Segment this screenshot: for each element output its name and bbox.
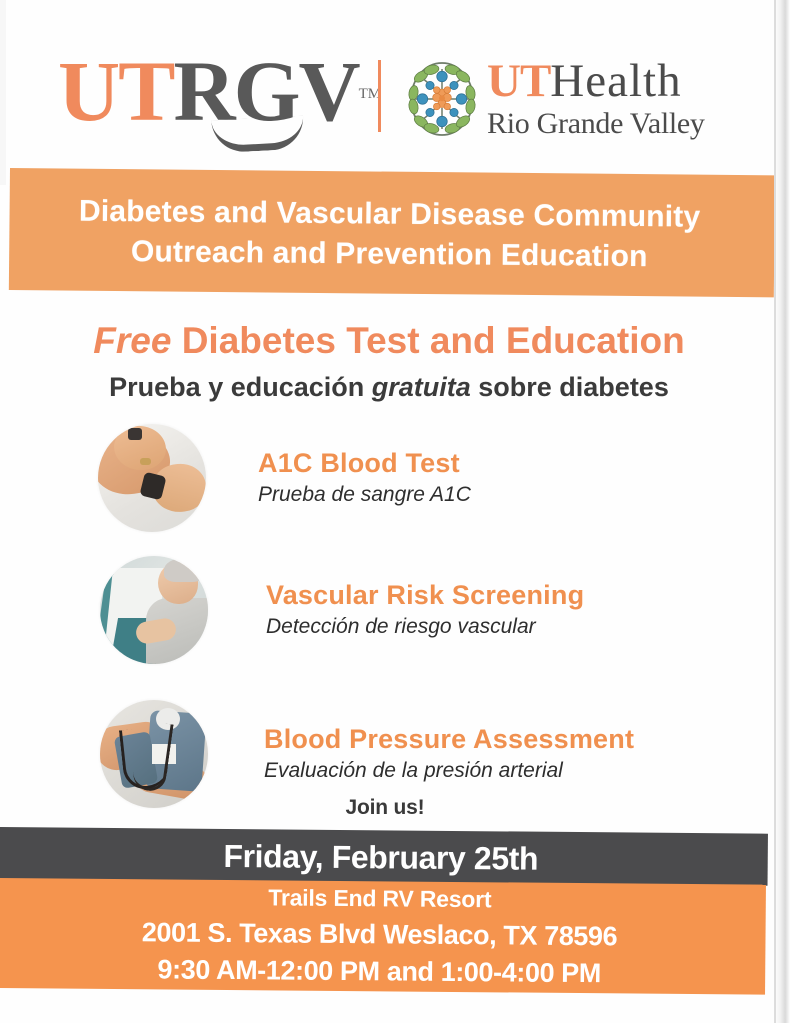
service-title-es: Detección de riesgo vascular [266,614,584,640]
uthealth-ut-text: UT [487,55,550,107]
service-item-blood-pressure: Blood Pressure Assessment Evaluación de … [100,700,634,808]
fingerstick-blood-test-photo [98,424,206,532]
utrgv-ut-text: UT [58,43,173,139]
floral-medallion-emblem [404,60,480,138]
flyer-page: UTRGVTM [0,0,790,1023]
page-title-rest: Diabetes Test and Education [182,320,685,361]
service-item-vascular: Vascular Risk Screening Detección de rie… [100,556,584,664]
event-date: Friday, February 25th [0,830,762,885]
patient-clinician-screening-photo [100,556,208,664]
page-title: Free Diabetes Test and Education [0,320,778,362]
event-address: 2001 S. Texas Blvd Weslaco, TX 78596 [142,916,618,955]
scan-edge-line [774,0,776,1023]
service-title-en: Vascular Risk Screening [266,580,584,611]
utrgv-swash-flourish [211,116,305,154]
header-banner-line1: Diabetes and Vascular Disease Community [79,192,701,238]
logo-bar: UTRGVTM [0,22,790,152]
page-title-free-word: Free [93,320,171,361]
service-title-es: Prueba de sangre A1C [258,482,471,508]
uthealth-health-text: Health [550,55,681,107]
service-title-es: Evaluación de la presión arterial [264,758,634,784]
subtitle-prefix: Prueba y educación [109,372,372,402]
page-subtitle-spanish: Prueba y educación gratuita sobre diabet… [0,372,778,403]
scan-right-edge [774,0,790,1023]
header-banner-line2: Outreach and Prevention Education [131,232,648,277]
service-title-en: Blood Pressure Assessment [264,724,634,755]
subtitle-suffix: sobre diabetes [471,372,669,402]
uthealth-subtitle: Rio Grande Valley [487,109,705,139]
event-venue: Trails End RV Resort [268,884,491,916]
event-hours: 9:30 AM-12:00 PM and 1:00-4:00 PM [157,953,601,992]
service-item-a1c: A1C Blood Test Prueba de sangre A1C [98,424,471,532]
uthealth-wordmark: UTHealth Rio Grande Valley [487,58,705,139]
service-title-en: A1C Blood Test [258,448,471,479]
event-location-block: Trails End RV Resort 2001 S. Texas Blvd … [0,882,760,993]
logo-divider [378,60,381,132]
header-banner-text: Diabetes and Vascular Disease Community … [9,176,770,293]
blood-pressure-cuff-photo [100,700,208,808]
join-us-label: Join us! [0,796,770,820]
subtitle-gratuita: gratuita [372,372,471,402]
